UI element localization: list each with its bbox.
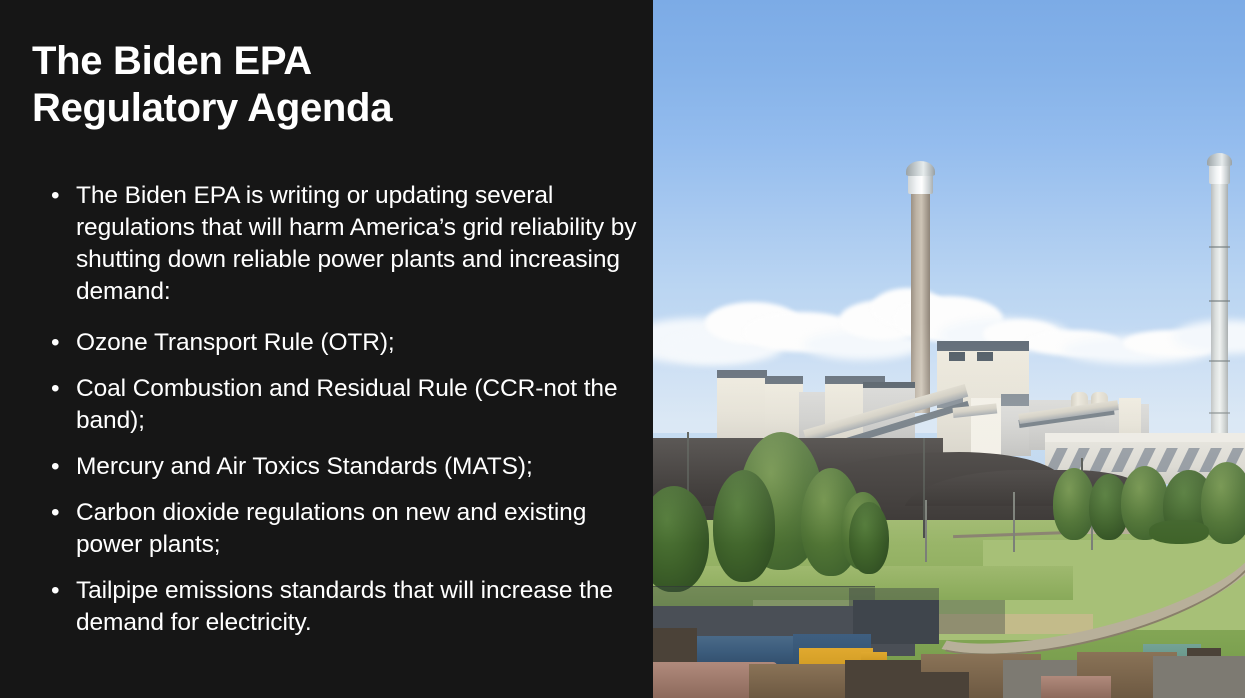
list-item: • Coal Combustion and Residual Rule (CCR… [44,373,644,437]
list-item: • Ozone Transport Rule (OTR); [44,327,644,359]
smokestack-right-cap [1209,163,1230,184]
list-item: • Mercury and Air Toxics Standards (MATS… [44,451,644,483]
smokestack-right-ring [1209,412,1230,414]
photo-scene [653,0,1245,698]
bullet-list: • The Biden EPA is writing or updating s… [44,180,644,653]
bullet-dot-icon: • [51,575,59,607]
list-item-label: Mercury and Air Toxics Standards (MATS); [76,453,533,480]
power-plant-photo [653,0,1245,698]
scrap-pile [1153,656,1245,698]
text-panel: The Biden EPA Regulatory Agenda • The Bi… [0,0,653,698]
smokestack-right-hat [1207,153,1232,166]
hedge [1149,520,1209,544]
bullet-dot-icon: • [51,451,59,483]
smokestack-right [1211,180,1228,442]
light-pole [923,438,925,538]
smokestack-right-ring [1209,300,1230,302]
utility-pole [925,500,927,562]
bullet-dot-icon: • [51,497,59,529]
list-item-label: Ozone Transport Rule (OTR); [76,329,395,356]
smokestack-right-ring [1209,246,1230,248]
plant-building-roof [717,370,767,378]
smokestack-right-ring [1209,360,1230,362]
fence-top-rail [653,586,875,587]
list-item-label: Tailpipe emissions standards that will i… [76,577,613,636]
list-item-label: The Biden EPA is writing or updating sev… [76,182,636,305]
utility-pole [1013,492,1015,552]
boiler-house-vent [949,352,965,361]
bullet-dot-icon: • [51,327,59,359]
plant-building-roof [863,382,915,388]
tree [849,502,889,574]
boiler-house-roof [937,341,1029,351]
scrap-pile [889,672,969,698]
list-item: • Tailpipe emissions standards that will… [44,575,644,639]
smokestack-left [911,188,930,413]
bullet-dot-icon: • [51,373,59,405]
list-item-label: Coal Combustion and Residual Rule (CCR-n… [76,375,617,434]
bullet-dot-icon: • [51,180,59,212]
smokestack-left-hat [906,161,935,176]
plant-building [717,376,767,440]
chain-link-fence [939,600,1005,634]
plant-louvre-wall [1045,433,1245,442]
list-item: • Carbon dioxide regulations on new and … [44,497,644,561]
scrap-pile [1041,676,1111,698]
list-item-label: Carbon dioxide regulations on new and ex… [76,499,586,558]
boiler-house-vent [977,352,993,361]
list-item: • The Biden EPA is writing or updating s… [44,180,644,308]
plant-building-roof [765,376,803,384]
slide: The Biden EPA Regulatory Agenda • The Bi… [0,0,1245,698]
page-title: The Biden EPA Regulatory Agenda [32,38,632,132]
tree [713,470,775,582]
